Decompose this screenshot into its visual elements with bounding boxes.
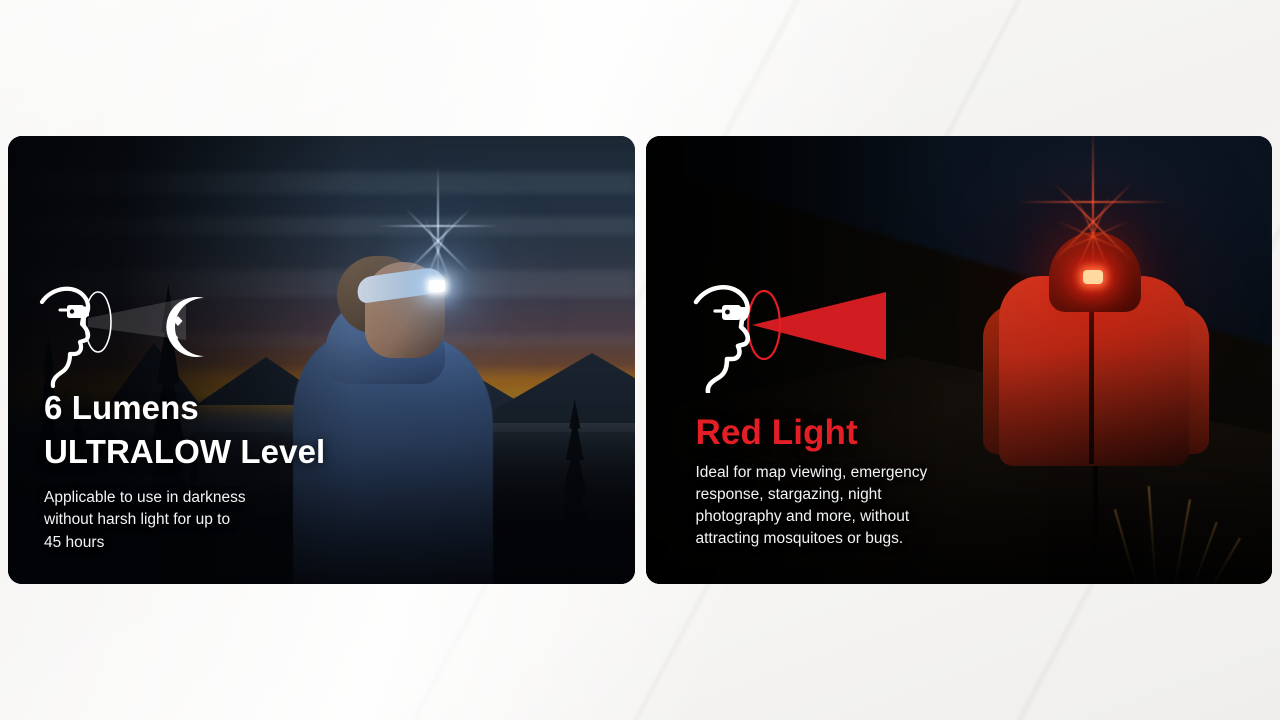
card-content-ultralow: 6 Lumens ULTRALOW Level Applicable to us… bbox=[8, 136, 635, 584]
card-content-red-light: Red Light Ideal for map viewing, emergen… bbox=[646, 136, 1273, 584]
card-title-red-light: Red Light bbox=[696, 414, 928, 453]
card-description-ultralow: Applicable to use in darkness without ha… bbox=[44, 487, 325, 554]
card-description-red-light: Ideal for map viewing, emergency respons… bbox=[696, 462, 928, 551]
headlamp-profile-red-beam-icon bbox=[690, 278, 890, 398]
card-text-block-ultralow: 6 Lumens ULTRALOW Level Applicable to us… bbox=[44, 386, 325, 554]
card-title-ultralow: 6 Lumens ULTRALOW Level bbox=[44, 386, 325, 473]
headlamp-profile-moon-icon bbox=[36, 280, 226, 395]
feature-card-ultralow[interactable]: 6 Lumens ULTRALOW Level Applicable to us… bbox=[8, 136, 635, 584]
feature-card-row: 6 Lumens ULTRALOW Level Applicable to us… bbox=[8, 136, 1272, 584]
feature-card-red-light[interactable]: Red Light Ideal for map viewing, emergen… bbox=[646, 136, 1273, 584]
card-text-block-red-light: Red Light Ideal for map viewing, emergen… bbox=[696, 414, 928, 551]
